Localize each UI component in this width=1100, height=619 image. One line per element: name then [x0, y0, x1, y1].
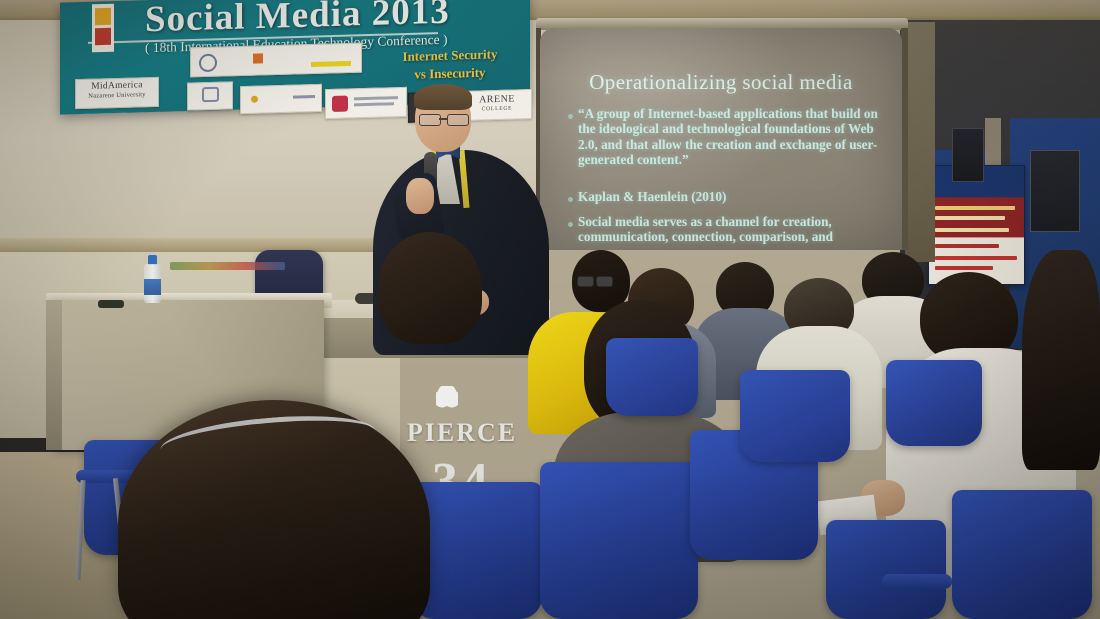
sponsor-logo-wide-top [190, 43, 362, 78]
sponsor-logo-2 [187, 81, 233, 110]
attendee-long-hair-right [1022, 250, 1100, 470]
audience-chair-5[interactable] [886, 360, 982, 446]
projection-screen: Operationalizing social media “A group o… [540, 28, 902, 250]
banner-theme-line2: vs Insecurity [365, 63, 530, 84]
slide-bullet-marker [568, 197, 573, 202]
shelf-items [170, 262, 285, 270]
speaker-hair [414, 84, 472, 110]
slide-bullet-2: Kaplan & Haenlein (2010) [578, 189, 878, 204]
jersey-name-text: PIERCE [398, 418, 526, 448]
audience-chair-8[interactable] [606, 338, 698, 416]
banner-theme-line1: Internet Security [365, 45, 530, 66]
conference-photo-scene: Social Media 2013 ( 18th International E… [0, 0, 1100, 619]
audience-chair-1[interactable] [412, 482, 542, 619]
audience-chair-7[interactable] [826, 520, 946, 619]
slide-bullet-1: “A group of Internet-based applications … [578, 106, 886, 167]
mobile-phone[interactable] [98, 300, 124, 308]
wall-behind-screen [905, 22, 935, 262]
chinese-event-poster [928, 165, 1025, 285]
audience-chair-6[interactable] [952, 490, 1092, 619]
chair-armrest-right[interactable] [882, 574, 952, 589]
lectern-side [46, 300, 62, 450]
sponsor-logo-3 [240, 84, 322, 114]
screen-edge-right [901, 28, 908, 250]
sponsor-logo-midamerica: MidAmerica Nazarene University [75, 77, 159, 109]
audience-chair-2[interactable] [540, 462, 698, 619]
film-strip-logo-icon [92, 4, 114, 53]
wall-poster-small-mid [952, 128, 984, 182]
slide-title: Operationalizing social media [540, 70, 902, 95]
sponsor-logo-4 [325, 87, 407, 119]
water-bottle-lectern[interactable] [144, 255, 161, 303]
attendee-yellow-jacket-glasses-icon [577, 276, 611, 286]
shamrock-icon [436, 386, 458, 408]
speaker-hand [406, 178, 434, 214]
slide-bullet-marker [568, 114, 573, 119]
slide-bullet-3: Social media serves as a channel for cre… [578, 214, 868, 245]
audience-chair-4[interactable] [740, 370, 850, 462]
sponsor-logo-nazarene-college: ARENE COLLEGE [462, 89, 532, 121]
slide-bullet-marker [568, 222, 573, 227]
speaker-eyeglasses-icon [419, 114, 467, 124]
attendee-pierce-jersey-head [378, 232, 482, 344]
wall-poster-small-right [1030, 150, 1080, 232]
